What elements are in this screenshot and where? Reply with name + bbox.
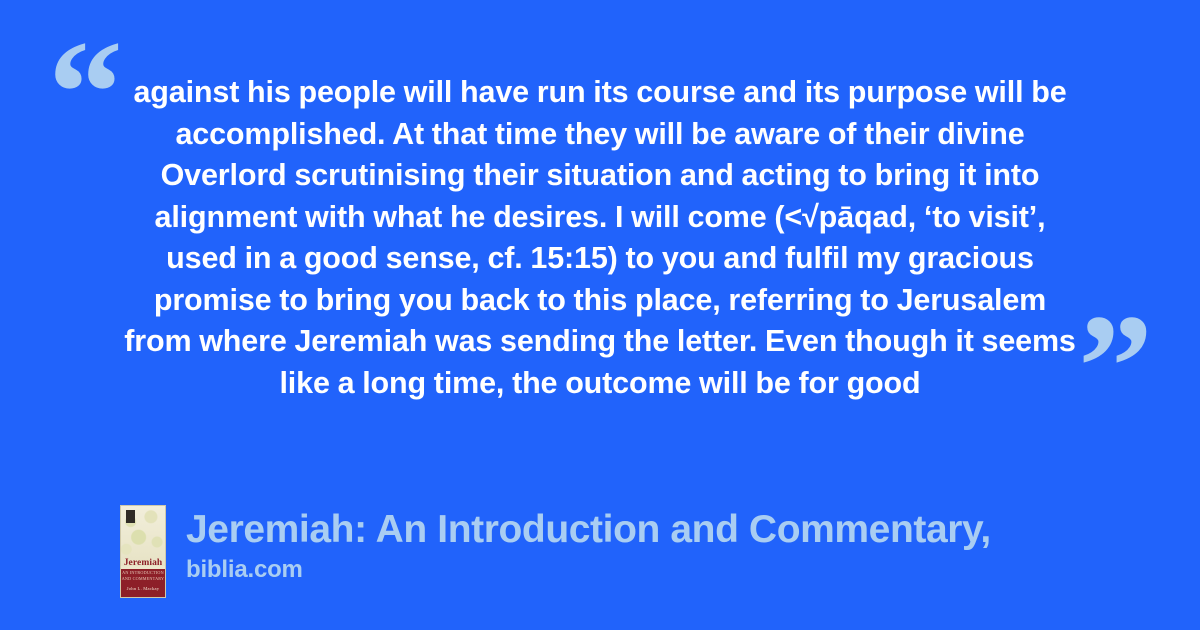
book-cover-thumbnail: Jeremiah AN INTRODUCTION AND COMMENTARY … <box>120 505 166 598</box>
quote-block: “ against his people will have run its c… <box>0 0 1200 470</box>
source-title: Jeremiah: An Introduction and Commentary… <box>186 507 991 553</box>
footer: Jeremiah AN INTRODUCTION AND COMMENTARY … <box>120 505 1160 605</box>
book-cover-author: John L. Mackay <box>121 586 165 592</box>
book-cover-subtitle: AN INTRODUCTION AND COMMENTARY <box>121 570 165 582</box>
quote-card: “ against his people will have run its c… <box>0 0 1200 630</box>
footer-text: Jeremiah: An Introduction and Commentary… <box>186 505 991 584</box>
quote-text: against his people will have run its cou… <box>118 72 1082 404</box>
open-quotation-mark-icon: “ <box>48 18 121 168</box>
source-site[interactable]: biblia.com <box>186 556 991 584</box>
book-cover-emblem-icon <box>126 510 135 523</box>
book-cover-title: Jeremiah <box>121 558 165 568</box>
close-quotation-mark-icon: ” <box>1078 292 1151 442</box>
